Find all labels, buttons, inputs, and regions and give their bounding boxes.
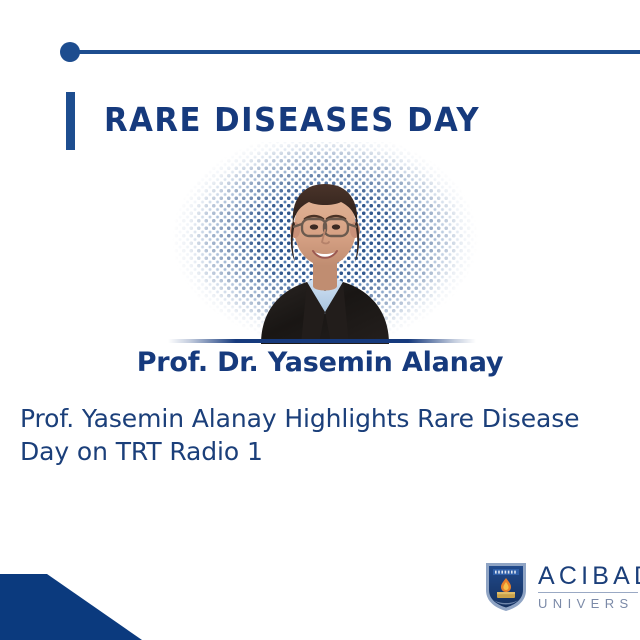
speaker-portrait [245, 162, 405, 344]
logo-divider [538, 592, 638, 593]
name-underline [168, 339, 476, 343]
acibadem-shield-crest-icon [484, 560, 528, 612]
logo-word-university: UNIVERS [538, 596, 640, 611]
navy-dot-icon [60, 42, 80, 62]
acibadem-university-logo: ACIBAD UNIVERS [484, 557, 640, 615]
headline-text: Prof. Yasemin Alanay Highlights Rare Dis… [20, 402, 604, 468]
speaker-name: Prof. Dr. Yasemin Alanay [0, 346, 640, 380]
top-horizontal-rule [78, 50, 640, 54]
title-accent-bar [66, 92, 75, 150]
corner-wedge-decoration [0, 572, 142, 640]
logo-wordmark: ACIBAD UNIVERS [538, 561, 640, 611]
logo-word-acibadem: ACIBAD [538, 563, 640, 589]
page-title: RARE DISEASES DAY [104, 98, 495, 142]
portrait-block [195, 144, 455, 344]
poster-canvas: RARE DISEASES DAY [0, 0, 640, 640]
